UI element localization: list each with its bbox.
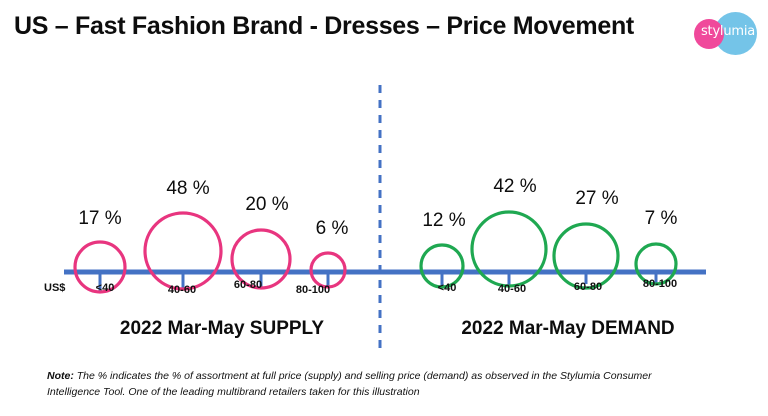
- page-header: US – Fast Fashion Brand - Dresses – Pric…: [0, 0, 768, 70]
- price-movement-bubble-chart: 17 % 48 % 20 % 6 % 12 % 42 % 27 % 7 % US…: [0, 70, 768, 350]
- pct-label-supply-80-100: 6 %: [316, 218, 349, 240]
- pct-label-demand-80-100: 7 %: [645, 208, 678, 230]
- pct-label-supply-lt40: 17 %: [78, 208, 121, 230]
- brand-logo-text: stylumia: [697, 24, 759, 39]
- tick-supply-40-60: 40-60: [168, 284, 196, 296]
- pct-label-demand-lt40: 12 %: [422, 210, 465, 232]
- stylumia-logo: stylumia: [694, 8, 762, 60]
- pct-label-demand-40-60: 42 %: [493, 176, 536, 198]
- pct-label-demand-60-80: 27 %: [575, 188, 618, 210]
- pct-label-supply-60-80: 20 %: [245, 194, 288, 216]
- pct-label-supply-40-60: 48 %: [166, 178, 209, 200]
- footnote: Note: The % indicates the % of assortmen…: [47, 368, 707, 400]
- tick-demand-lt40: <40: [438, 282, 457, 294]
- tick-demand-60-80: 60-80: [574, 281, 602, 293]
- panel-caption-supply: 2022 Mar-May SUPPLY: [120, 318, 324, 340]
- tick-supply-lt40: <40: [96, 282, 115, 294]
- tick-supply-80-100: 80-100: [296, 284, 330, 296]
- tick-supply-60-80: 60-80: [234, 279, 262, 291]
- footnote-text: The % indicates the % of assortment at f…: [47, 370, 652, 398]
- tick-demand-80-100: 80-100: [643, 278, 677, 290]
- page-title: US – Fast Fashion Brand - Dresses – Pric…: [14, 12, 634, 41]
- tick-demand-40-60: 40-60: [498, 283, 526, 295]
- axis-unit-label: US$: [44, 282, 65, 294]
- footnote-label: Note:: [47, 370, 74, 382]
- panel-caption-demand: 2022 Mar-May DEMAND: [461, 318, 674, 340]
